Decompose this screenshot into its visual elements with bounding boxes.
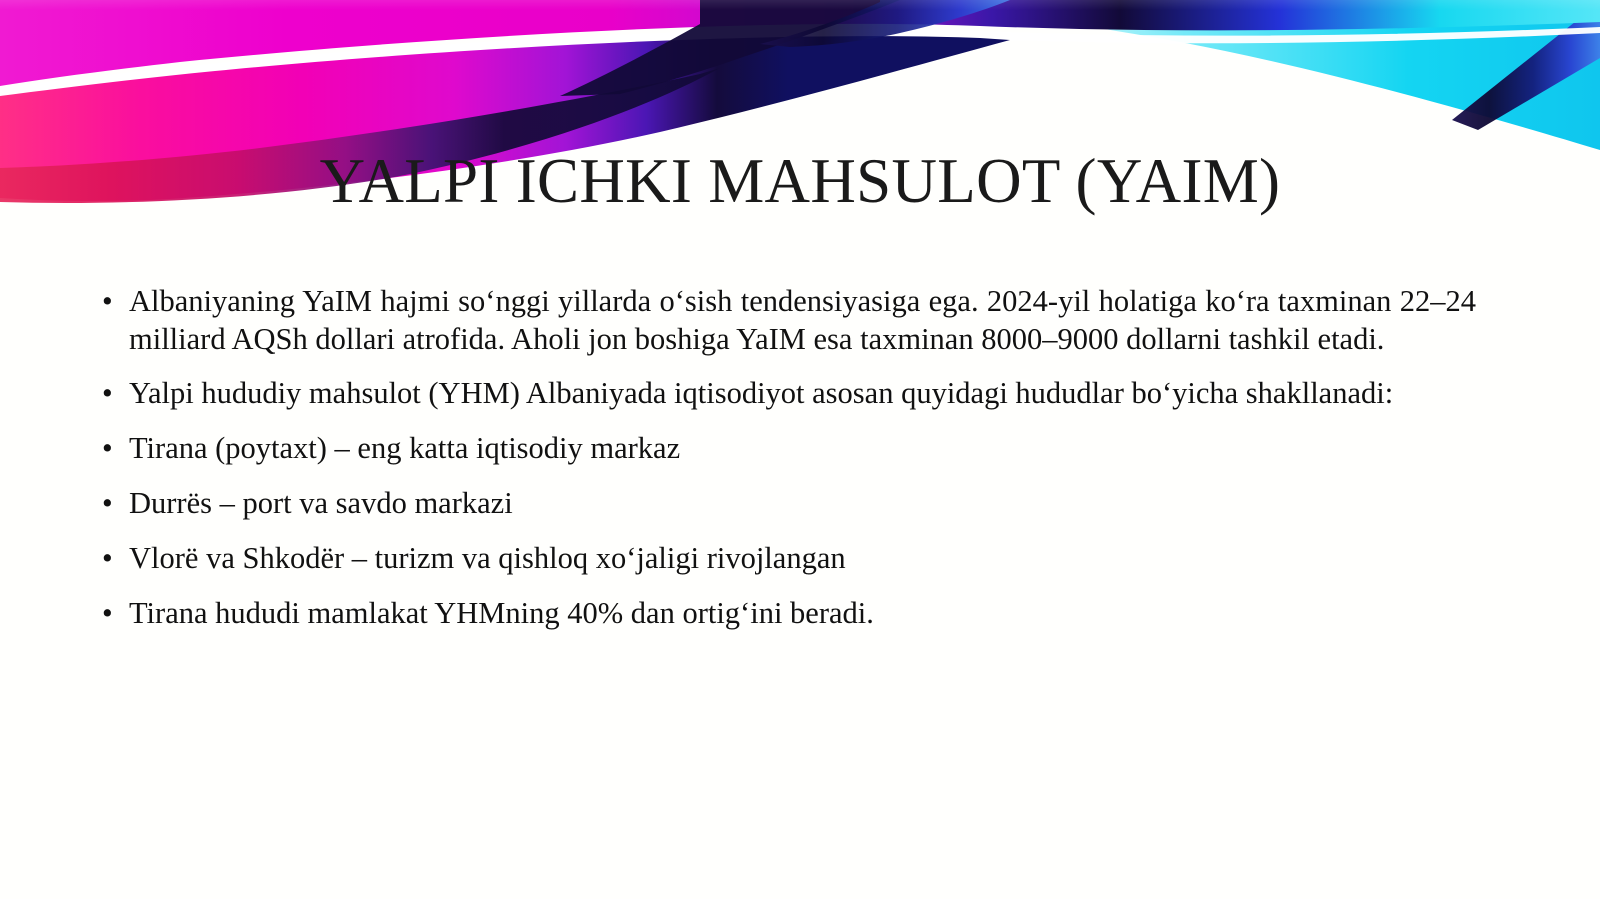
slide-title: YALPI ICHKI MAHSULOT (YAIM) — [0, 146, 1600, 216]
list-item: • Vlorë va Shkodër – turizm va qishloq x… — [96, 539, 1476, 577]
slide-body: • Albaniyaning YaIM hajmi so‘nggi yillar… — [96, 282, 1476, 632]
list-item: • Tirana hududi mamlakat YHMning 40% dan… — [96, 594, 1476, 632]
spacer — [96, 358, 1476, 374]
list-item-text: Tirana hududi mamlakat YHMning 40% dan o… — [129, 596, 874, 630]
list-item-text: Yalpi hududiy mahsulot (YHM) Albaniyada … — [129, 376, 1393, 410]
bullet-glyph: • — [102, 539, 112, 577]
spacer — [96, 412, 1476, 429]
list-item: • Durrës – port va savdo markazi — [96, 484, 1476, 522]
presentation-slide: YALPI ICHKI MAHSULOT (YAIM) • Albaniyani… — [0, 0, 1600, 899]
list-item-text: Albaniyaning YaIM hajmi so‘nggi yillarda… — [129, 284, 1476, 356]
bullet-glyph: • — [102, 429, 112, 467]
list-item-text: Durrës – port va savdo markazi — [129, 486, 513, 520]
list-item: • Albaniyaning YaIM hajmi so‘nggi yillar… — [96, 282, 1476, 358]
bullet-glyph: • — [102, 594, 112, 632]
bullet-glyph: • — [102, 282, 112, 320]
spacer — [96, 522, 1476, 539]
spacer — [96, 577, 1476, 594]
spacer — [96, 467, 1476, 484]
list-item-text: Tirana (poytaxt) – eng katta iqtisodiy m… — [129, 431, 680, 465]
list-item: • Tirana (poytaxt) – eng katta iqtisodiy… — [96, 429, 1476, 467]
list-item: • Yalpi hududiy mahsulot (YHM) Albaniyad… — [96, 374, 1476, 412]
list-item-text: Vlorë va Shkodër – turizm va qishloq xo‘… — [129, 541, 846, 575]
bullet-glyph: • — [102, 484, 112, 522]
bullet-glyph: • — [102, 374, 112, 412]
